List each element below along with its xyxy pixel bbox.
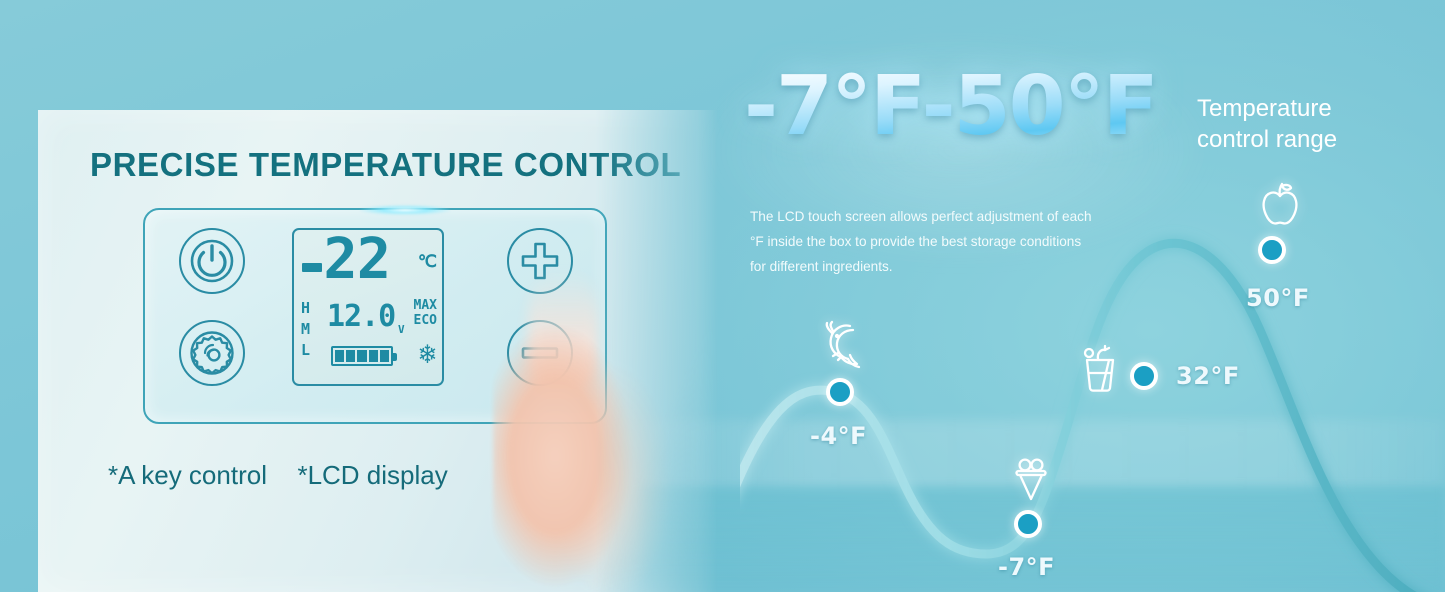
board-highlight	[360, 205, 450, 215]
headline-caption-line1: Temperature	[1197, 95, 1332, 122]
ice-cream-icon	[1014, 454, 1048, 504]
lcd-negative-sign	[302, 263, 322, 272]
lcd-mode-max: MAX	[414, 298, 437, 313]
wave-curve	[740, 243, 1445, 592]
battery-bar	[369, 350, 378, 362]
lcd-voltage-unit: V	[398, 323, 405, 336]
left-feature-panel: PRECISE TEMPERATURE CONTROL	[38, 110, 718, 592]
battery-bar	[346, 350, 355, 362]
lcd-temperature-unit: ℃	[418, 254, 437, 271]
panel-captions: *A key control *LCD display	[108, 460, 448, 491]
lcd-fan-levels: HML	[301, 298, 310, 361]
lcd-voltage-value: 12.0	[327, 302, 395, 332]
hand-illustration	[493, 306, 678, 592]
data-point-label: 32°F	[1176, 362, 1240, 390]
power-icon	[181, 230, 243, 292]
data-point-label: -4°F	[810, 422, 867, 450]
data-point-marker	[826, 378, 854, 406]
headline-caption-line2: control range	[1197, 126, 1337, 153]
data-point-marker	[1014, 510, 1042, 538]
settings-button[interactable]	[179, 320, 245, 386]
lcd-mode-indicators: MAX ECO	[414, 298, 437, 328]
snowflake-icon: ❄	[419, 340, 436, 368]
lcd-display: 22 ℃ HML 12.0 V MAX ECO ❄	[292, 228, 444, 386]
shrimp-icon	[820, 320, 866, 370]
apple-icon	[1258, 180, 1302, 228]
headline-temperature-range: -7°F-50°F	[744, 66, 1157, 148]
battery-bar	[357, 350, 366, 362]
lcd-temperature-value: 22	[323, 232, 390, 288]
data-point-seafood[interactable]: -4°F	[826, 378, 854, 406]
lcd-main-row: 22 ℃	[302, 236, 438, 298]
gear-icon	[181, 322, 243, 384]
data-point-label: -7°F	[998, 553, 1055, 581]
data-point-ice-cream[interactable]: -7°F	[1014, 510, 1042, 538]
lcd-battery-indicator	[331, 346, 393, 366]
power-button[interactable]	[179, 228, 245, 294]
data-point-marker	[1258, 236, 1286, 264]
drink-icon	[1078, 344, 1124, 394]
data-point-marker	[1130, 362, 1158, 390]
caption-lcd-display: *LCD display	[297, 460, 447, 490]
page-title: PRECISE TEMPERATURE CONTROL	[90, 146, 681, 184]
battery-bar	[380, 350, 389, 362]
promo-banner: PRECISE TEMPERATURE CONTROL	[0, 0, 1445, 592]
data-point-label: 50°F	[1246, 284, 1310, 312]
data-point-drinks[interactable]: 32°F	[1130, 362, 1158, 390]
battery-bar	[335, 350, 344, 362]
caption-a-key-control: *A key control	[108, 460, 267, 490]
lcd-mode-eco: ECO	[414, 313, 437, 328]
headline-caption: Temperature control range	[1197, 93, 1397, 155]
data-point-fruit[interactable]: 50°F	[1258, 236, 1286, 264]
